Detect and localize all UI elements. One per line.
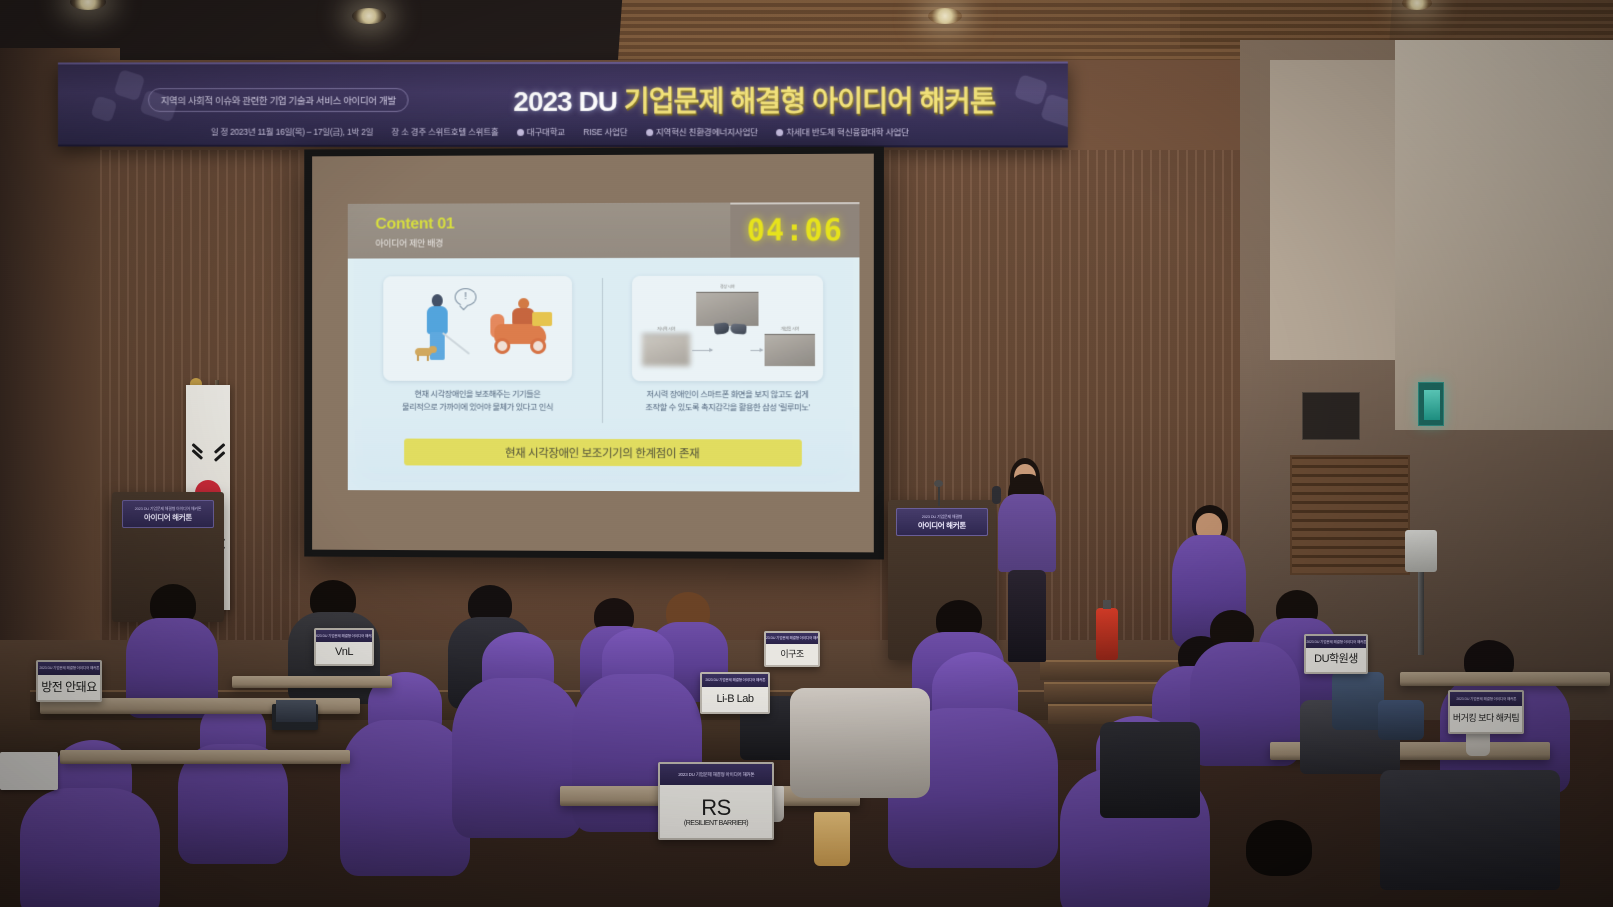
drink-cup-center [814,812,850,866]
auditorium-scene: 지역의 사회적 이슈와 관련한 기업 기술과 서비스 아이디어 개발 2023 … [0,0,1613,907]
wall-right-panel-far [1395,40,1613,430]
photo-normal-vision [696,292,758,326]
table-row-mid-left [60,750,350,764]
ceiling-light-3 [928,8,962,24]
presentation-slide: Content 01 아이디어 제안 배경 04:06 ! [348,202,860,492]
placard-header: 2023 DU 기업문제 해결형 아이디어 해커톤 [38,662,100,675]
placard-header-text: 2023 DU 기업문제 해결형 아이디어 해커톤 [314,633,374,638]
ceiling-light-2 [352,8,386,24]
placard-header: 2023 DU 기업문제 해결형 아이디어 해커톤 [766,633,818,644]
placard-du-student: 2023 DU 기업문제 해결형 아이디어 해커톤 DU학원생 [1304,634,1368,674]
chair-right-2 [1378,700,1424,740]
slide-caption-left: 현재 시각장애인을 보조해주는 기기들은 물리적으로 가까이에 있어야 물체가 … [377,388,578,414]
placard-team-name: 방전 안돼요 [38,675,100,700]
wall-vent [1302,392,1360,440]
countdown-timer-value: 04:06 [747,213,843,248]
placard-header-text: 2023 DU 기업문제 해결형 아이디어 해커톤 [764,636,820,641]
banner-title-year: 2023 DU [513,86,623,117]
banner-sponsor-1: 대구대학교 [527,127,565,137]
exit-sign [1418,382,1444,426]
sponsor-bullet-icon-1 [517,129,524,136]
attendee-back-1 [126,584,218,714]
scooter-delivery-box [532,312,552,326]
attendee-hoodie [452,678,582,838]
smart-glasses-icon [714,322,748,336]
presenter-legs [1008,570,1046,662]
slide-body: ! [348,257,860,491]
backpack-right-3 [1380,770,1560,890]
dog-leg-1 [417,355,419,361]
banner-decoration-left-1 [113,69,145,101]
placard-team-name: DU학원생 [1306,648,1366,672]
podium-microphone-icon [938,484,940,506]
banner-decoration-right-1 [1014,74,1049,106]
photo-low-vision [642,334,690,366]
chair-right [1332,672,1384,730]
banner-title-main: 기업문제 해결형 아이디어 해커톤 [624,86,995,117]
placard-igujo: 2023 DU 기업문제 해결형 아이디어 해커톤 이구조 [764,631,820,667]
sponsor-bullet-icon-3 [776,129,783,136]
placard-team-name: RS (RESILIENT BARRIER) [660,785,772,838]
photo-enhanced-vision [765,334,815,366]
attendee-hair [1246,820,1312,876]
glasses-lens-right [730,323,747,334]
placard-header-text: 2023 DU 기업문제 해결형 아이디어 해커톤 [678,771,754,777]
banner-decoration-left-3 [90,95,117,122]
presenter [996,458,1058,670]
placard-header: 2023 DU 기업문제 해결형 아이디어 해커톤 [1450,692,1522,706]
table-row-back-center [232,676,392,688]
backpack-right-1 [1100,722,1200,818]
slide-caption-left-line1: 현재 시각장애인을 보조해주는 기기들은 [377,388,578,401]
placard-header-text: 2023 DU 기업문제 해결형 아이디어 해커톤 [39,666,99,671]
slide-column-divider [602,278,603,423]
slide-section-label: Content 01 [375,215,454,233]
white-cane-icon [442,332,470,354]
scooter-wheel-rear [530,338,546,354]
slide-illustration-card-right: 정상 시야 저시력 시야 개선된 시야 [632,276,823,382]
banner-sponsor-4: 차세대 반도체 혁신융합대학 사업단 [786,127,908,137]
podium-left-plate: 2023 DU 기업문제 해결형 아이디어 해커톤 아이디어 해커톤 [122,500,214,528]
banner-sponsor-3: 지역혁신 친환경에너지사업단 [656,127,758,137]
slide-illustration-card-left: ! [383,276,572,381]
dog-head [429,346,437,353]
banner-schedule-label: 일 정 [211,127,228,137]
exclamation-bubble-icon: ! [455,288,477,306]
attendee-front-3 [1216,820,1366,907]
placard-burgerking: 2023 DU 기업문제 해결형 아이디어 해커톤 버거킹 보다 해커팀 [1448,690,1524,734]
arrow-glasses-to-right-icon [750,350,762,351]
wall-right-panel-upper [1270,60,1400,360]
placard-header: 2023 DU 기업문제 해결형 아이디어 해커톤 [316,630,372,642]
banner-title: 2023 DU 기업문제 해결형 아이디어 해커톤 [492,80,1017,120]
banner-place-label: 장 소 [391,127,408,137]
placard-bangjeon: 2023 DU 기업문제 해결형 아이디어 해커톤 방전 안돼요 [36,660,102,702]
attendee-hoodie [340,720,470,876]
podium-left-plate-line2: 아이디어 해커톤 [144,512,192,523]
table-row-right-far [1400,672,1610,686]
slide-highlight-bar: 현재 시각장애인 보조기기의 한계점이 존재 [404,439,802,467]
placard-header-text: 2023 DU 기업문제 해결형 아이디어 해커톤 [1306,639,1366,644]
placard-rs: 2023 DU 기업문제 해결형 아이디어 해커톤 RS (RESILIENT … [658,762,774,840]
banner-sponsor-2: RISE 사업단 [583,127,627,137]
presenter-torso [998,494,1056,572]
photo-label-top: 정상 시야 [696,284,758,290]
photo-label-right: 개선된 시야 [765,326,815,332]
attendee-hoodie [20,788,160,907]
slide-caption-right-line1: 저시력 장애인이 스마트폰 화면을 보지 않고도 쉽게 [626,388,829,401]
placard-header: 2023 DU 기업문제 해결형 아이디어 해커톤 [1306,636,1366,648]
placard-team-name-sub: (RESILIENT BARRIER) [684,820,748,827]
laptop-front-left [0,752,58,790]
glasses-lens-left [714,322,730,335]
placard-lib-lab: 2023 DU 기업문제 해결형 아이디어 해커톤 Li-B Lab [700,672,770,714]
slide-section-subtitle: 아이디어 제안 배경 [375,236,443,249]
banner-details: 일 정 2023년 11월 16일(목) – 17일(금), 1박 2일 장 소… [58,126,1068,139]
countdown-timer: 04:06 [730,202,859,258]
slide-header-bar: Content 01 아이디어 제안 배경 04:06 [348,202,860,258]
presenter-hand-microphone-icon [992,486,1001,504]
placard-header: 2023 DU 기업문제 해결형 아이디어 해커톤 [702,674,768,687]
placard-team-name: VnL [316,642,372,664]
slide-highlight-text: 현재 시각장애인 보조기기의 한계점이 존재 [505,444,699,461]
person-body [427,306,448,334]
sponsor-bullet-icon-2 [646,129,653,136]
placard-team-name: Li-B Lab [702,687,768,712]
laptop-left-screen [276,700,316,722]
slide-caption-left-line2: 물리적으로 가까이에 있어야 물체가 있다고 인식 [377,401,578,414]
banner-decoration-right-2 [1040,93,1068,129]
placard-team-name: 버거킹 보다 해커팀 [1450,706,1522,732]
podium-microphone-head-icon [934,480,943,487]
fire-extinguisher [1096,608,1118,660]
placard-vnl: 2023 DU 기업문제 해결형 아이디어 해커톤 VnL [314,628,374,666]
speaker-box [1405,530,1437,572]
slide-caption-right: 저시력 장애인이 스마트폰 화면을 보지 않고도 쉽게 조작할 수 있도록 촉지… [626,388,829,414]
event-banner: 지역의 사회적 이슈와 관련한 기업 기술과 서비스 아이디어 개발 2023 … [58,61,1068,147]
banner-place-value: 경주 스위트호텔 스위트홀 [411,127,499,137]
folded-clothes-pile [790,688,930,798]
banner-subtitle-badge: 지역의 사회적 이슈와 관련한 기업 기술과 서비스 아이디어 개발 [148,88,409,112]
slide-caption-right-line2: 조작할 수 있도록 촉지감각을 활용한 삼성 '릴루미노' [626,401,829,414]
arrow-left-to-glasses-icon [692,350,712,351]
wall-wood-grille [1290,455,1410,575]
guide-dog-icon [415,346,437,360]
dog-leg-2 [427,355,429,361]
placard-header: 2023 DU 기업문제 해결형 아이디어 해커톤 [660,764,772,785]
scooter-wheel-front [494,338,510,354]
placard-header-text: 2023 DU 기업문제 해결형 아이디어 해커톤 [1456,696,1516,701]
placard-team-name: 이구조 [766,644,818,665]
photo-label-left: 저시력 시야 [642,326,690,332]
podium-right-plate: 2023 DU 기업문제 해결형 아이디어 해커톤 [896,508,988,536]
podium-right-plate-line2: 아이디어 해커톤 [918,520,966,531]
placard-team-name-main: RS [701,796,731,819]
placard-header-text: 2023 DU 기업문제 해결형 아이디어 해커톤 [705,678,765,683]
banner-schedule-value: 2023년 11월 16일(목) – 17일(금), 1박 2일 [230,127,373,137]
delivery-scooter-icon [490,298,558,360]
